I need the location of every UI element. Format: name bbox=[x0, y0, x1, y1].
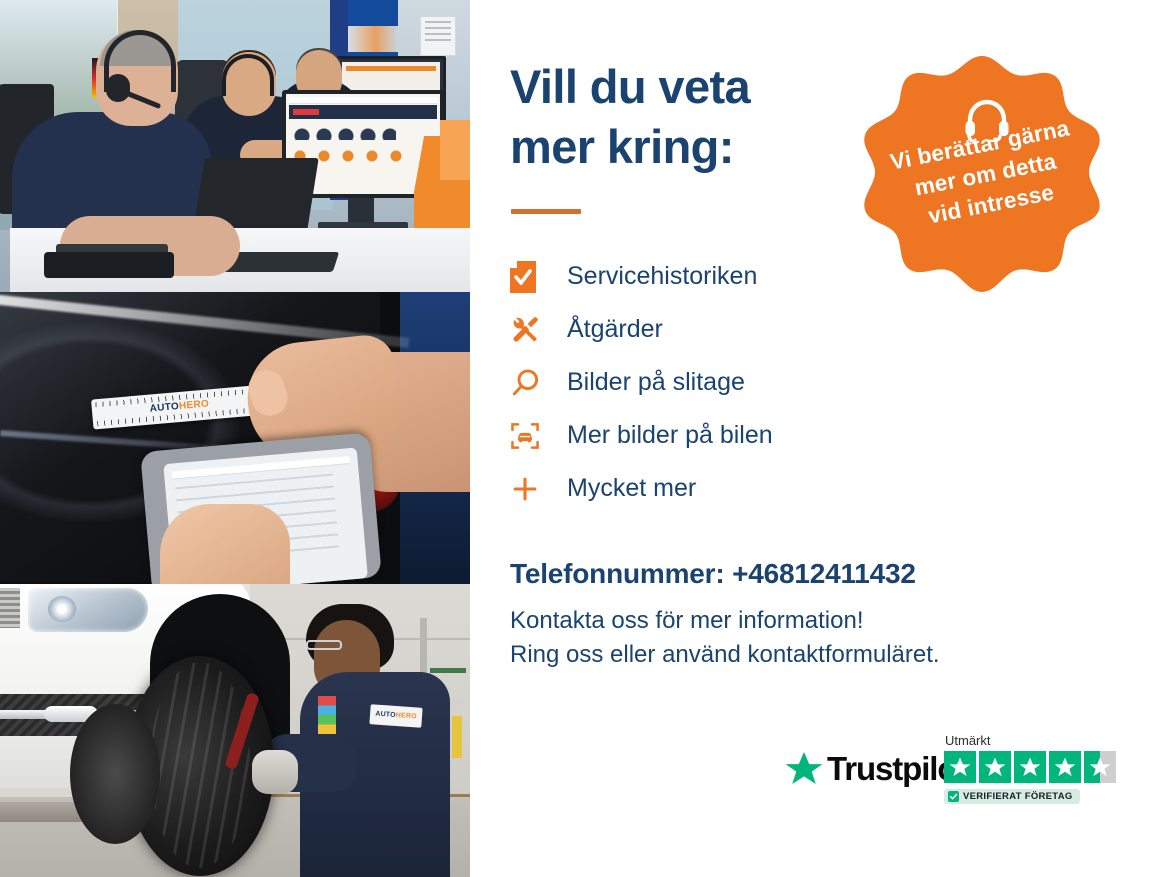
car-scan-icon bbox=[510, 421, 554, 451]
wall-color-chart bbox=[318, 696, 336, 734]
mechanic-glove bbox=[252, 750, 298, 794]
wheel-rim bbox=[70, 704, 160, 844]
yellow-post bbox=[452, 716, 462, 758]
contact-line-1: Kontakta oss för mer information! bbox=[510, 604, 940, 638]
feature-label: Mycket mer bbox=[554, 476, 696, 501]
trustpilot-star-icon bbox=[784, 750, 824, 788]
feature-item-mer-bilder-pa-bilen: Mer bilder på bilen bbox=[510, 409, 930, 462]
ruler-brand-auto: AUTO bbox=[149, 401, 179, 415]
callout-badge: Vi berättar gärna mer om detta vid intre… bbox=[863, 52, 1101, 297]
star-3 bbox=[1014, 751, 1046, 783]
patch-brand-auto: AUTO bbox=[375, 711, 396, 719]
wall-notice bbox=[420, 16, 456, 56]
feature-label: Åtgärder bbox=[554, 317, 663, 342]
content-column: Vill du veta mer kring: Servicehistorike… bbox=[470, 0, 1170, 877]
star-rating bbox=[944, 751, 1124, 783]
feature-label: Servicehistoriken bbox=[554, 264, 757, 289]
promo-banner: AUTOHERO bbox=[0, 0, 1170, 877]
star-2 bbox=[979, 751, 1011, 783]
patch-brand-hero: HERO bbox=[396, 712, 417, 720]
verified-company-badge: VERIFIERAT FÖRETAG bbox=[944, 789, 1080, 804]
phone-number-line: Telefonnummer: +46812411432 bbox=[510, 558, 916, 590]
car-grille bbox=[0, 588, 20, 628]
headline-line-1: Vill du veta bbox=[510, 60, 750, 113]
photo-wheel-inspection: AUTOHERO bbox=[0, 584, 470, 877]
orange-chair-back bbox=[440, 120, 470, 180]
agent-1-earcup bbox=[106, 74, 130, 102]
green-wall-marker bbox=[430, 668, 466, 673]
trustpilot-logo: Trustpilot bbox=[784, 750, 966, 788]
page-title: Vill du veta mer kring: bbox=[510, 57, 750, 176]
mechanic-glasses bbox=[306, 640, 342, 650]
contact-instructions: Kontakta oss för mer information! Ring o… bbox=[510, 604, 940, 672]
wall-poster-image bbox=[348, 26, 398, 52]
feature-label: Bilder på slitage bbox=[554, 370, 745, 395]
photo-call-center bbox=[0, 0, 470, 292]
photo-column: AUTOHERO bbox=[0, 0, 470, 877]
star-5-half bbox=[1084, 751, 1116, 783]
star-1 bbox=[944, 751, 976, 783]
feature-item-mycket-mer: Mycket mer bbox=[510, 462, 930, 515]
ruler-brand-hero: HERO bbox=[179, 398, 210, 412]
heading-divider bbox=[511, 209, 581, 214]
trustpilot-rating: Utmärkt bbox=[944, 733, 1124, 807]
verified-label: VERIFIERAT FÖRETAG bbox=[963, 791, 1073, 802]
inspector-hand-lower bbox=[160, 504, 290, 584]
photo-body-inspection: AUTOHERO bbox=[0, 292, 470, 584]
headline-line-2: mer kring: bbox=[510, 120, 734, 173]
desk-tablet bbox=[44, 252, 174, 278]
document-check-icon bbox=[510, 261, 554, 293]
magnifier-icon bbox=[510, 368, 554, 398]
tools-icon bbox=[510, 315, 554, 345]
car-headlight bbox=[28, 588, 148, 632]
phone-number[interactable]: +46812411432 bbox=[732, 558, 916, 589]
autohero-uniform-patch: AUTOHERO bbox=[369, 704, 422, 728]
trustpilot-widget[interactable]: Trustpilot Utmärkt bbox=[784, 733, 1134, 823]
feature-label: Mer bilder på bilen bbox=[554, 423, 773, 448]
star-4 bbox=[1049, 751, 1081, 783]
contact-line-2: Ring oss eller använd kontaktformuläret. bbox=[510, 638, 940, 672]
feature-item-atgarder: Åtgärder bbox=[510, 303, 930, 356]
plus-icon bbox=[510, 474, 554, 504]
verified-check-icon bbox=[948, 791, 959, 802]
feature-item-bilder-pa-slitage: Bilder på slitage bbox=[510, 356, 930, 409]
rating-label: Utmärkt bbox=[944, 733, 1124, 748]
phone-label: Telefonnummer: bbox=[510, 558, 724, 589]
